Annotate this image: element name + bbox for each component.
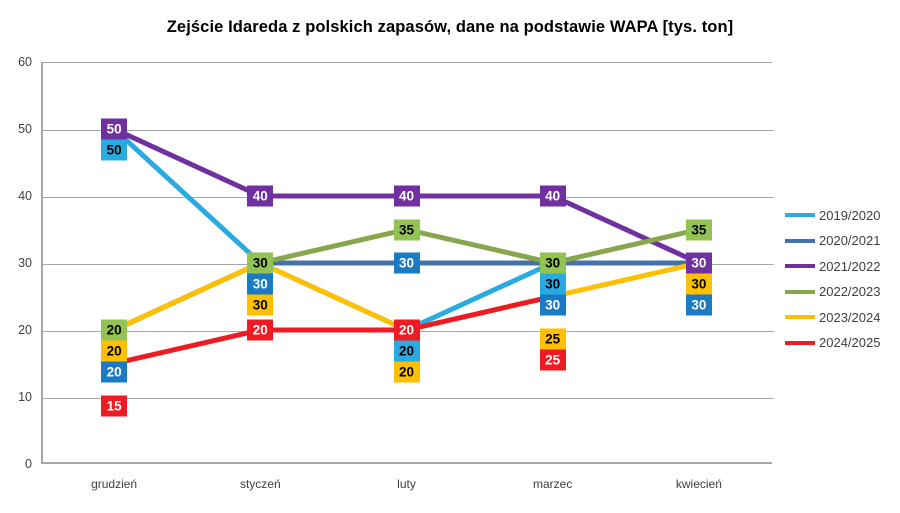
legend-label: 2019/2020 <box>819 208 880 223</box>
data-label: 30 <box>247 295 273 316</box>
data-label: 25 <box>540 328 566 349</box>
legend-color-swatch <box>785 315 815 319</box>
data-label: 20 <box>394 341 420 362</box>
data-label: 40 <box>394 186 420 207</box>
legend-item[interactable]: 2020/2021 <box>785 229 880 253</box>
data-label: 20 <box>101 341 127 362</box>
data-label: 30 <box>686 274 712 295</box>
data-label: 20 <box>394 362 420 383</box>
data-label: 30 <box>247 253 273 274</box>
data-label: 20 <box>394 320 420 341</box>
legend-color-swatch <box>785 213 815 217</box>
data-label: 30 <box>540 253 566 274</box>
data-label: 35 <box>686 219 712 240</box>
legend-label: 2022/2023 <box>819 284 880 299</box>
data-label: 25 <box>540 349 566 370</box>
legend-color-swatch <box>785 290 815 294</box>
legend-color-swatch <box>785 264 815 268</box>
legend-item[interactable]: 2022/2023 <box>785 280 880 304</box>
legend-label: 2021/2022 <box>819 259 880 274</box>
chart-legend: 2019/20202020/20212021/20222022/20232023… <box>785 203 897 363</box>
legend-label: 2020/2021 <box>819 233 880 248</box>
legend-color-swatch <box>785 341 815 345</box>
data-label: 30 <box>394 253 420 274</box>
series-lines <box>0 0 900 513</box>
data-label: 20 <box>101 362 127 383</box>
series-line <box>114 297 553 364</box>
data-label: 40 <box>247 186 273 207</box>
data-label: 50 <box>101 119 127 140</box>
legend-item[interactable]: 2024/2025 <box>785 331 880 355</box>
legend-label: 2023/2024 <box>819 310 880 325</box>
data-label: 50 <box>101 140 127 161</box>
legend-color-swatch <box>785 239 815 243</box>
chart-container: Zejście Idareda z polskich zapasów, dane… <box>0 0 900 513</box>
series-line <box>114 230 699 331</box>
data-label: 30 <box>540 295 566 316</box>
data-label: 15 <box>101 395 127 416</box>
data-label: 40 <box>540 186 566 207</box>
legend-item[interactable]: 2023/2024 <box>785 305 880 329</box>
data-label: 35 <box>394 219 420 240</box>
data-label: 30 <box>540 274 566 295</box>
data-label: 30 <box>247 274 273 295</box>
data-label: 20 <box>101 320 127 341</box>
legend-label: 2024/2025 <box>819 335 880 350</box>
data-label: 30 <box>686 253 712 274</box>
data-label: 20 <box>247 320 273 341</box>
legend-item[interactable]: 2019/2020 <box>785 203 880 227</box>
legend-item[interactable]: 2021/2022 <box>785 254 880 278</box>
data-label: 30 <box>686 295 712 316</box>
